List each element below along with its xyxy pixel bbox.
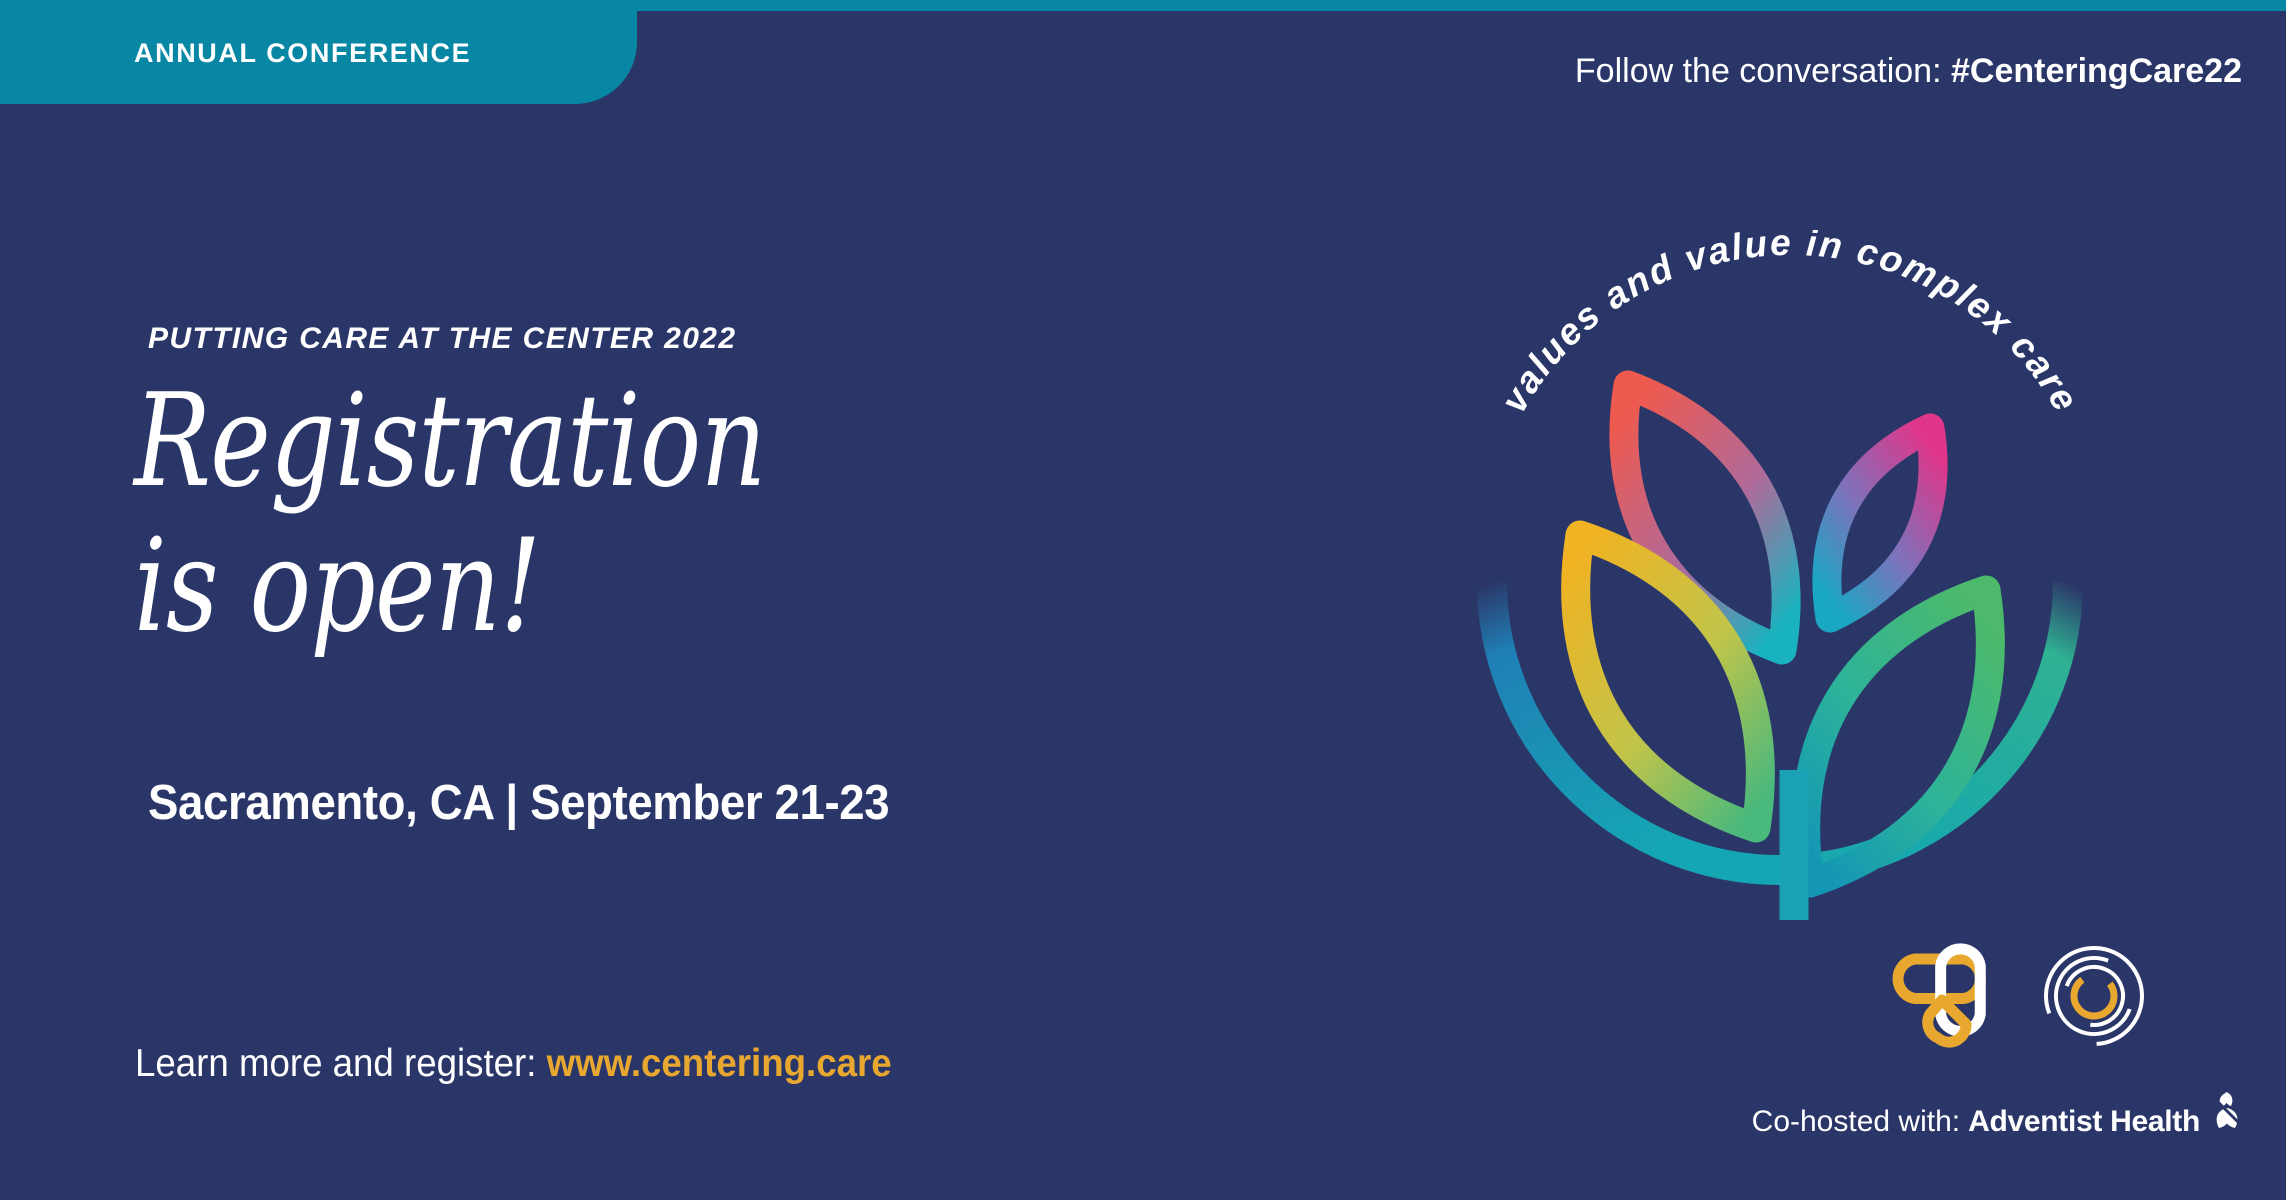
cohost-line: Co-hosted with: Adventist Health bbox=[1752, 1102, 2250, 1142]
centering-logo-mark: values and value in complex care bbox=[1430, 230, 2150, 920]
cta-prefix: Learn more and register: bbox=[135, 1042, 547, 1085]
logo-petal-bottom-left bbox=[1576, 535, 1761, 828]
social-follow-prefix: Follow the conversation: bbox=[1575, 52, 1951, 90]
cta-line: Learn more and register: www.centering.c… bbox=[135, 1042, 892, 1086]
conference-banner: ANNUAL CONFERENCE Follow the conversatio… bbox=[0, 0, 2286, 1200]
centering-link-icon bbox=[1880, 940, 1990, 1050]
cta-url-link[interactable]: www.centering.care bbox=[547, 1042, 892, 1085]
social-hashtag: #CenteringCare22 bbox=[1951, 52, 2242, 90]
annual-conference-tab: ANNUAL CONFERENCE bbox=[0, 0, 637, 104]
cohost-brand-name: Adventist Health bbox=[1968, 1105, 2200, 1139]
logo-petal-bottom-right bbox=[1806, 590, 1991, 883]
annual-conference-label: ANNUAL CONFERENCE bbox=[134, 38, 471, 69]
logo-petal-top-right bbox=[1827, 428, 1933, 618]
event-location-dates: Sacramento, CA | September 21-23 bbox=[148, 775, 889, 831]
concentric-c-icon bbox=[2040, 942, 2148, 1050]
logo-curved-tagline: values and value in complex care bbox=[1493, 230, 2087, 419]
social-follow-line: Follow the conversation: #CenteringCare2… bbox=[1575, 52, 2242, 91]
cohost-prefix: Co-hosted with: bbox=[1752, 1105, 1960, 1139]
page-title: Registration is open! bbox=[134, 370, 934, 659]
partner-logo-group bbox=[1880, 940, 2140, 1060]
event-theme-eyebrow: PUTTING CARE AT THE CENTER 2022 bbox=[148, 322, 736, 356]
adventist-leaf-icon bbox=[2204, 1088, 2250, 1142]
